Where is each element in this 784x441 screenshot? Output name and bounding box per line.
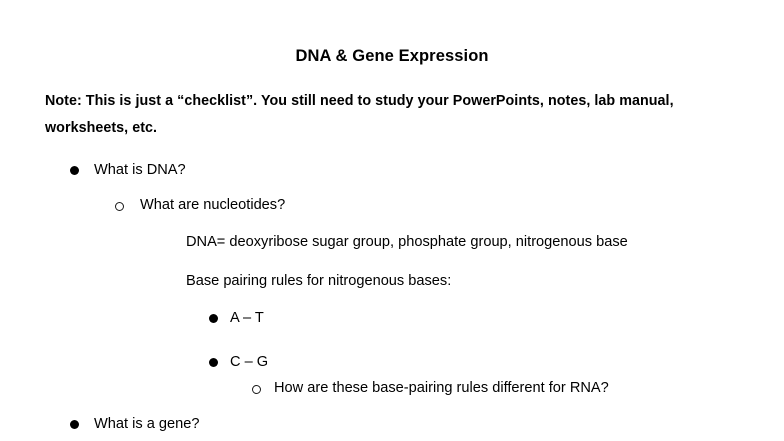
list-item: What is a gene? [0, 414, 784, 440]
list-item-label: How are these base-pairing rules differe… [274, 378, 609, 398]
filled-disc-bullet-icon [209, 358, 218, 367]
filled-disc-bullet-icon [70, 166, 79, 175]
list-item-label: DNA= deoxyribose sugar group, phosphate … [186, 232, 628, 252]
list-item-label: What is DNA? [94, 160, 186, 180]
page-title: DNA & Gene Expression [0, 47, 784, 67]
outline-list: What is DNA? What are nucleotides? DNA= … [0, 160, 784, 440]
filled-disc-bullet-icon [209, 314, 218, 323]
list-item: DNA= deoxyribose sugar group, phosphate … [0, 232, 784, 271]
list-item: Base pairing rules for nitrogenous bases… [0, 271, 784, 308]
list-item-label: What is a gene? [94, 414, 199, 434]
list-item-label: Base pairing rules for nitrogenous bases… [186, 271, 451, 291]
hollow-circle-bullet-icon [252, 385, 261, 394]
list-item-label: A – T [230, 308, 264, 328]
document-page: DNA & Gene Expression Note: This is just… [0, 0, 784, 441]
hollow-circle-bullet-icon [115, 202, 124, 211]
filled-disc-bullet-icon [70, 420, 79, 429]
note-paragraph: Note: This is just a “checklist”. You st… [45, 88, 731, 142]
list-item: C – G [0, 352, 784, 378]
list-item-label: C – G [230, 352, 268, 372]
list-item: A – T [0, 308, 784, 352]
list-item: How are these base-pairing rules differe… [0, 378, 784, 414]
list-item-label: What are nucleotides? [140, 195, 285, 215]
list-item: What are nucleotides? [0, 195, 784, 232]
list-item: What is DNA? [0, 160, 784, 195]
